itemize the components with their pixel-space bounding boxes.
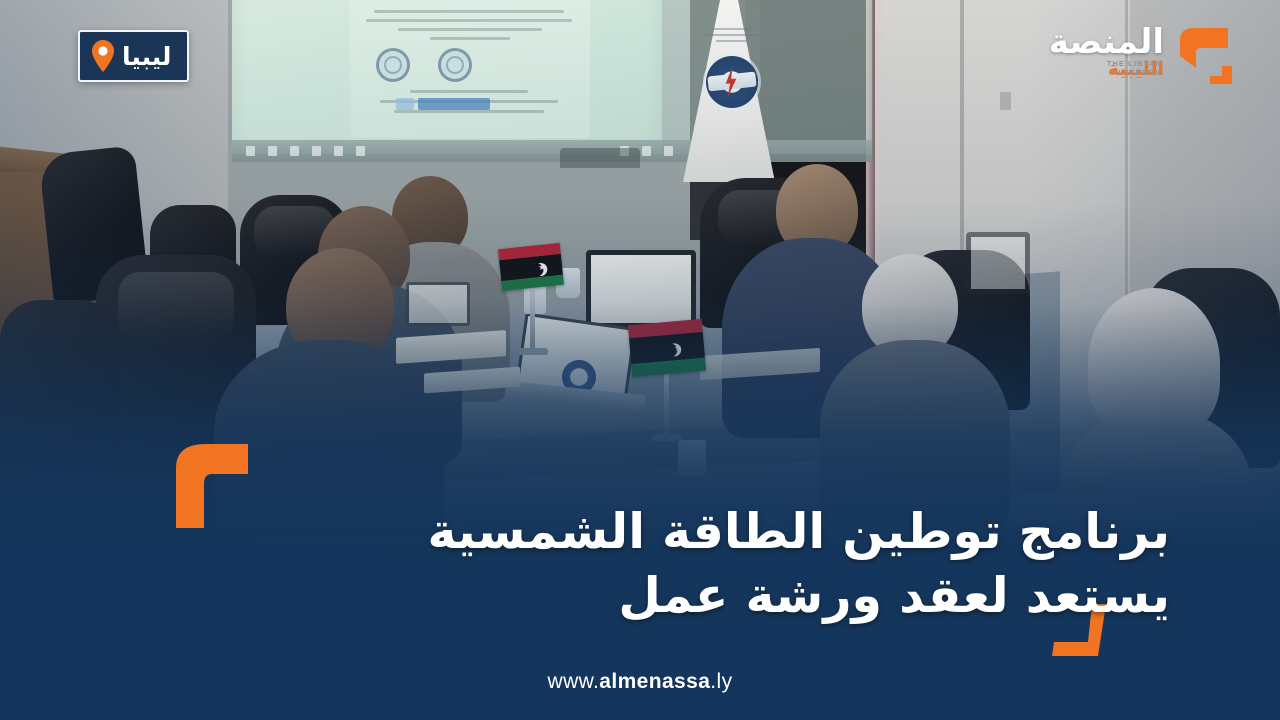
url-suffix: .ly <box>710 670 732 693</box>
brand-wordmark: المنصة الليبية THE LIBYAN PLATFORM <box>1049 22 1164 77</box>
location-badge[interactable]: ليبيا <box>78 30 189 82</box>
brand-logo[interactable]: المنصة الليبية THE LIBYAN PLATFORM <box>1049 22 1244 96</box>
site-url[interactable]: www.almenassa.ly <box>0 670 1280 694</box>
location-pin-icon <box>90 39 116 73</box>
brand-mark-icon <box>1170 22 1244 96</box>
news-card: ليبيا المنصة الليبية THE LIBYAN PLATFORM… <box>0 0 1280 720</box>
brand-arabic-primary: المنصة <box>1049 26 1164 59</box>
url-name: almenassa <box>599 670 710 693</box>
corner-bracket-top-left-icon <box>172 442 248 528</box>
url-prefix: www. <box>548 670 600 693</box>
headline-text: برنامج توطين الطاقة الشمسية يستعد لعقد و… <box>270 500 1170 627</box>
brand-latin-line2: PLATFORM <box>1049 68 1162 77</box>
location-label: ليبيا <box>122 44 171 69</box>
